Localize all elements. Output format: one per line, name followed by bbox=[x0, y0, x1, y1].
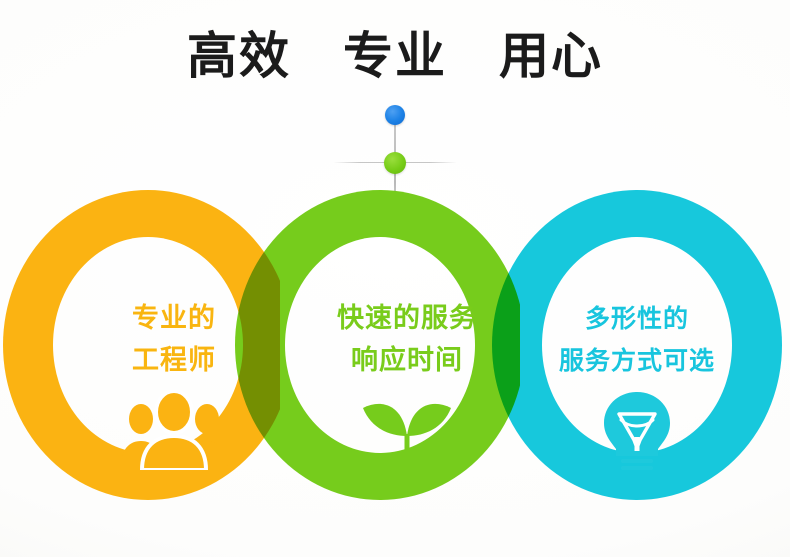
lightbulb-icon bbox=[577, 390, 697, 472]
icon-wrap-engineers bbox=[114, 390, 234, 470]
circle-line1-service-options: 多形性的 bbox=[585, 304, 689, 333]
circle-line2-response-time: 响应时间 bbox=[292, 340, 522, 382]
circle-line1-response-time: 快速的服务 bbox=[337, 303, 477, 334]
circle-title-service-options: 多形性的 服务方式可选 bbox=[522, 298, 752, 382]
circle-title-engineers: 专业的 工程师 bbox=[59, 298, 289, 382]
circle-content-engineers: 专业的 工程师 bbox=[59, 298, 289, 470]
venn-rings-svg bbox=[0, 0, 790, 557]
three-people-icon bbox=[114, 390, 234, 470]
sprout-leaf-icon bbox=[347, 390, 467, 470]
icon-wrap-service-options bbox=[577, 390, 697, 470]
circle-line2-engineers: 工程师 bbox=[59, 340, 289, 382]
circle-content-response-time: 快速的服务 响应时间 bbox=[292, 298, 522, 470]
venn-rings-group bbox=[0, 0, 790, 557]
circle-line1-engineers: 专业的 bbox=[132, 303, 216, 334]
circle-line2-service-options: 服务方式可选 bbox=[522, 340, 752, 382]
circle-title-response-time: 快速的服务 响应时间 bbox=[292, 298, 522, 382]
infographic-banner: 高效专业用心 bbox=[0, 0, 790, 557]
circle-content-service-options: 多形性的 服务方式可选 bbox=[522, 298, 752, 470]
icon-wrap-response-time bbox=[347, 390, 467, 470]
